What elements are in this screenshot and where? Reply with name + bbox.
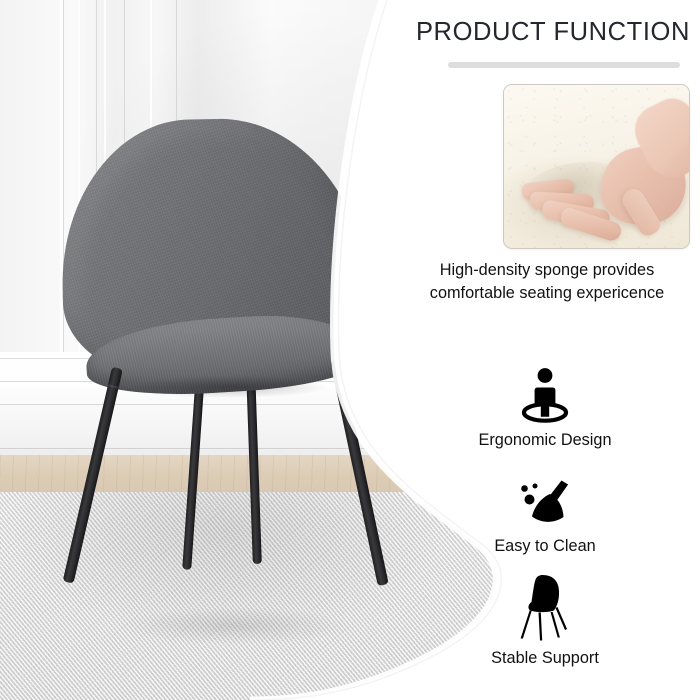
feature-label: Ergonomic Design [400,431,690,450]
product-function-infographic: PRODUCT FUNCTION High-density sponge pro… [0,0,700,700]
feature-stable-support: Stable Support [400,572,690,668]
title-underline-rule [448,62,680,68]
feature-easy-to-clean: Easy to Clean [400,478,690,556]
broom-icon [400,478,690,530]
chair-leg-front-left [63,367,123,584]
chair-icon [400,572,690,642]
sponge-photo-card [503,84,690,249]
page-title: PRODUCT FUNCTION [400,18,690,47]
feature-label: Stable Support [400,649,690,668]
chair-seat-shadow [96,372,364,402]
feature-panel: PRODUCT FUNCTION High-density sponge pro… [400,0,700,700]
person-in-circle-icon [400,366,690,424]
feature-ergonomic-design: Ergonomic Design [400,366,690,450]
chair-floor-shadow [70,600,400,652]
feature-label: Easy to Clean [400,537,690,556]
sponge-caption: High-density sponge provides comfortable… [402,259,692,305]
chair-leg-front-right [330,359,389,586]
